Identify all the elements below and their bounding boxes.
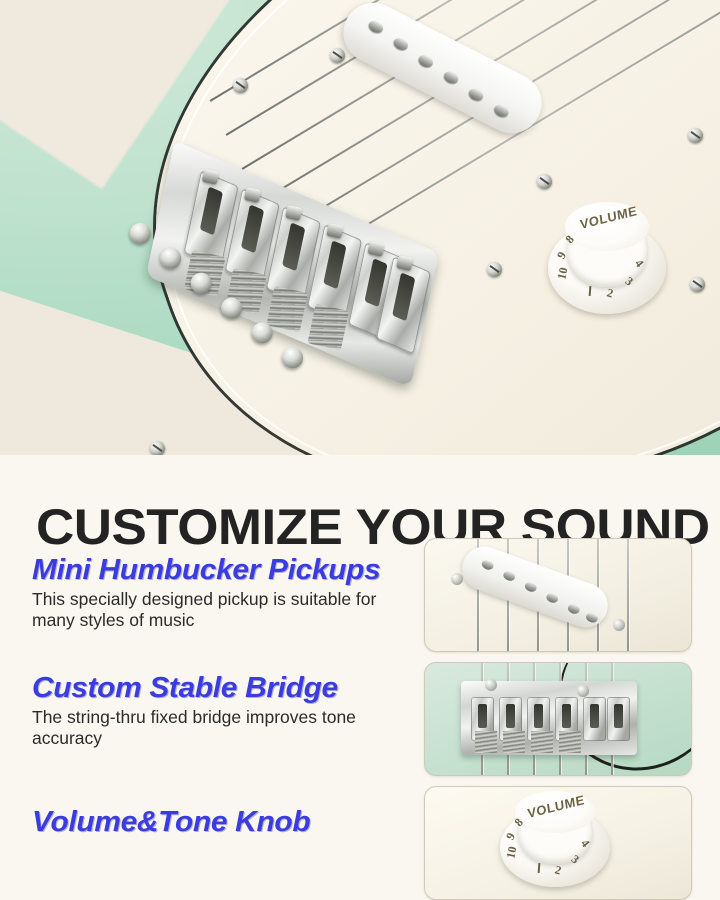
pickup-pole-3 [417, 53, 435, 70]
pickup-pole-4 [442, 69, 460, 86]
thumb-bridge-screw-left [485, 679, 497, 691]
thumb-humbucker-pickup [456, 540, 614, 633]
thumbnail-card-pickups[interactable] [424, 538, 692, 652]
thumb-saddle-5 [583, 697, 606, 741]
feature-description-pickups: This specially designed pickup is suitab… [32, 589, 412, 631]
volume-knob-thumbnail: VOLUME 10 9 8 2 3 4 [500, 795, 610, 891]
product-feature-page: VOLUME 10 9 8 2 3 4 CUSTOMIZE YOUR SOUND… [0, 0, 720, 900]
thumb-spring-2 [503, 731, 525, 753]
string-ferrule-6 [280, 345, 305, 370]
volume-knob-photo: VOLUME 10 9 8 2 3 4 [548, 206, 666, 318]
hero-guitar-photo: VOLUME 10 9 8 2 3 4 [0, 0, 720, 455]
feature-title-bridge: Custom Stable Bridge [32, 673, 434, 704]
bridge-hexnut-6 [396, 255, 413, 271]
bridge-hexnut-3 [285, 205, 302, 221]
thumbnail-card-knob[interactable]: VOLUME 10 9 8 2 3 4 [424, 786, 692, 900]
feature-title-knob: Volume&Tone Knob [32, 807, 434, 838]
thumb-pole-1 [480, 559, 494, 572]
thumb-pole-4 [545, 592, 559, 605]
pickguard-screw-bottom [537, 174, 552, 189]
pickguard-screw-lower [487, 262, 502, 277]
bridge-hexnut-1 [202, 169, 219, 185]
pickup-pole-2 [392, 36, 410, 53]
thumbnail-card-bridge[interactable] [424, 662, 692, 776]
pickup-pole-6 [492, 103, 510, 120]
pickguard-screw-bottom-left [150, 441, 165, 455]
pickup-pole-1 [367, 18, 385, 35]
thumb-spring-3 [531, 731, 553, 753]
thumb-bridge-screw-right [577, 685, 589, 697]
feature-title-pickups: Mini Humbucker Pickups [32, 555, 434, 586]
thumb-saddle-6 [607, 697, 630, 741]
pickguard-screw-left [233, 78, 248, 93]
feature-description-bridge: The string-thru fixed bridge improves to… [32, 707, 412, 749]
thumb-spring-1 [475, 731, 497, 753]
thumb-string-6 [627, 538, 629, 652]
thumb-pole-6 [585, 612, 599, 625]
feature-block-pickups: Mini Humbucker Pickups This specially de… [32, 555, 422, 630]
knob-top-face [565, 202, 650, 251]
thumb-knob-top-face [515, 791, 594, 833]
pickup-pole-5 [467, 86, 485, 103]
bridge-hexnut-2 [244, 187, 261, 203]
feature-block-bridge: Custom Stable Bridge The string-thru fix… [32, 673, 422, 748]
bridge-hexnut-5 [367, 241, 384, 257]
thumb-pole-3 [524, 581, 538, 594]
pickguard-screw-top [330, 48, 345, 63]
thumb-spring-4 [559, 731, 581, 753]
bridge-hexnut-4 [326, 223, 343, 239]
pickguard-screw-mid-right [690, 277, 705, 292]
feature-block-knob: Volume&Tone Knob [32, 807, 422, 838]
thumb-pole-2 [502, 570, 516, 583]
thumb-screw-left [451, 573, 463, 585]
thumb-screw-right [613, 619, 625, 631]
pickguard-screw-right [688, 128, 703, 143]
thumb-pole-5 [567, 603, 581, 616]
